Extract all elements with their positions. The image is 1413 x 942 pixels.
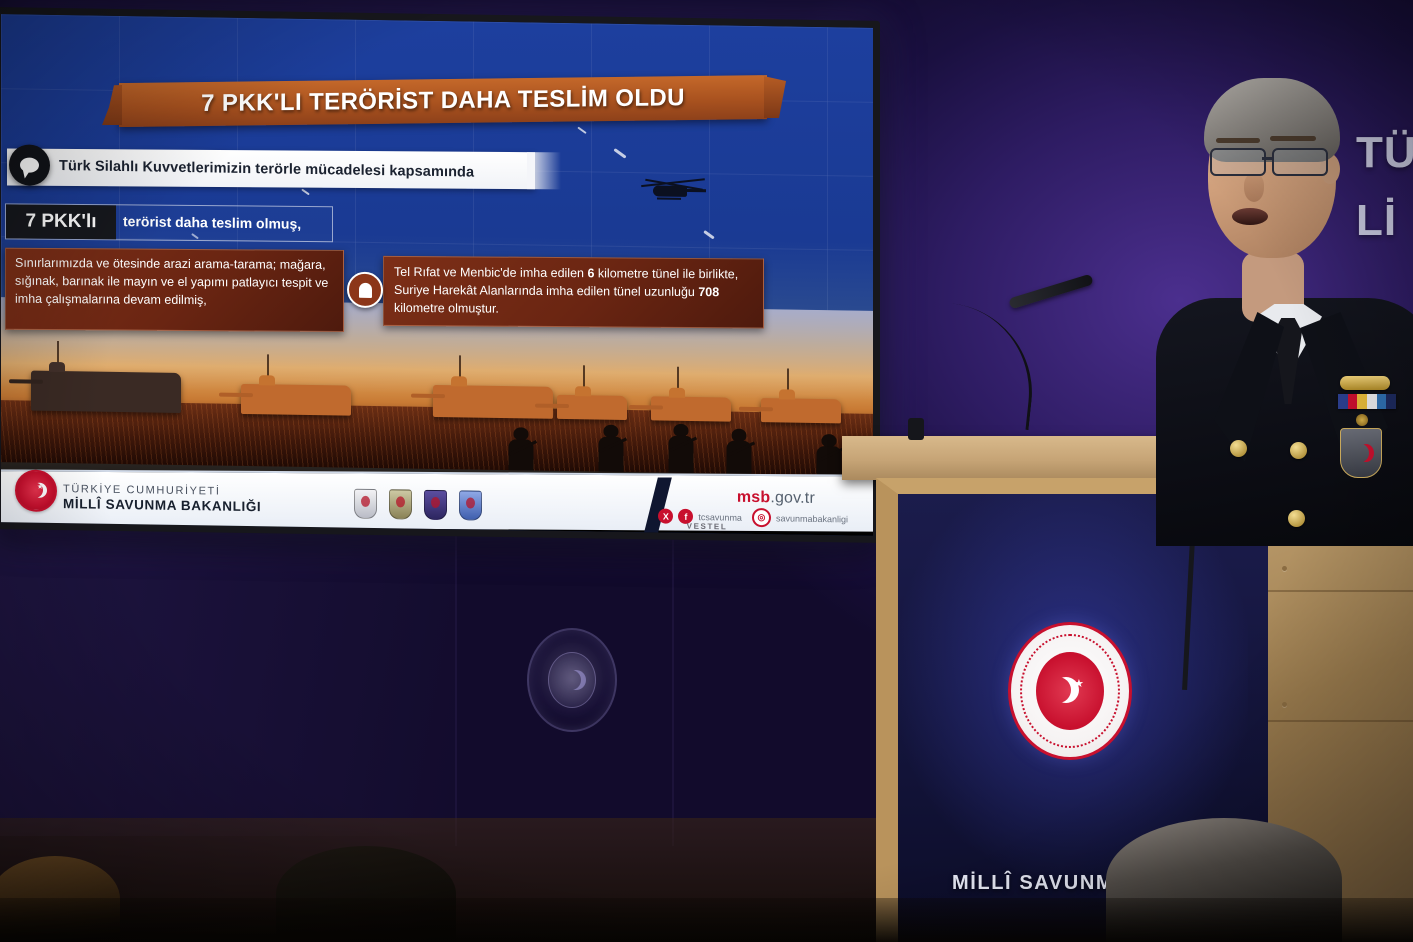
- screenshot-root: TÜ Lİ: [0, 0, 1413, 942]
- crest-air-forces-icon: [424, 490, 447, 520]
- info-right-part-c: kilometre olmuştur.: [394, 301, 499, 316]
- display-screen: 7 PKK'LI TERÖRİST DAHA TESLİM OLDU Türk …: [1, 14, 873, 536]
- url-rest: .gov.tr: [770, 489, 815, 507]
- wall-panel-left: [0, 516, 455, 836]
- speaker-eyebrow-right: [1270, 136, 1316, 141]
- speech-bubble-icon: [9, 144, 50, 186]
- slide-lead-banner-text: Türk Silahlı Kuvvetlerimizin terörle müc…: [59, 147, 474, 191]
- social-handle-2: savunmabakanligi: [776, 513, 848, 524]
- footer-org-line-2: MİLLÎ SAVUNMA BAKANLIĞI: [63, 496, 261, 514]
- slide-title: 7 PKK'LI TERÖRİST DAHA TESLİM OLDU: [119, 75, 767, 127]
- instagram-icon: ◎: [752, 508, 771, 527]
- speaker-eyeglasses-icon: [1210, 148, 1336, 174]
- speaker-nose: [1244, 174, 1264, 202]
- crest-general-staff-icon: [354, 489, 377, 519]
- podium-ministry-seal-icon: ★: [1008, 622, 1132, 760]
- speaker-medal-icon: [1356, 414, 1368, 426]
- speaker-unit-patch-icon: [1340, 428, 1382, 478]
- slide-title-ribbon: 7 PKK'LI TERÖRİST DAHA TESLİM OLDU: [119, 75, 767, 127]
- slide-info-right-text: Tel Rıfat ve Menbic'de imha edilen 6 kil…: [394, 263, 755, 320]
- vehicle-silhouette: [557, 395, 627, 420]
- vehicle-silhouette: [31, 371, 181, 413]
- jacket-button: [1288, 510, 1305, 527]
- speaker-mouth: [1232, 208, 1268, 225]
- slide-info-box-left: Sınırlarımızda ve ötesinde arazi arama-t…: [5, 248, 344, 332]
- slide-highlight-text: terörist daha teslim olmuş,: [123, 204, 301, 241]
- info-right-number-2: 708: [698, 285, 719, 299]
- ministry-seal-icon: ★: [15, 469, 57, 512]
- jacket-button: [1290, 442, 1307, 459]
- info-right-part-a: Tel Rıfat ve Menbic'de imha edilen: [394, 265, 587, 280]
- slide-info-box-right: Tel Rıfat ve Menbic'de imha edilen 6 kil…: [383, 256, 764, 329]
- slide-highlight-badge: 7 PKK'lı: [6, 204, 116, 239]
- vehicle-silhouette: [761, 398, 841, 423]
- tunnel-icon: [347, 272, 383, 309]
- tv-brand-label: VESTEL: [686, 522, 727, 532]
- x-twitter-icon: X: [658, 508, 673, 523]
- speaker-eyebrow-left: [1216, 138, 1260, 143]
- jacket-button: [1230, 440, 1247, 457]
- wall-seam: [455, 516, 457, 846]
- presentation-display: 7 PKK'LI TERÖRİST DAHA TESLİM OLDU Türk …: [0, 7, 880, 543]
- social-handle-1: tcsavunma: [698, 512, 742, 523]
- seal-star-glyph: ★: [1074, 677, 1084, 690]
- vehicle-silhouette: [651, 396, 731, 421]
- speaker-gold-insignia: [1340, 376, 1390, 390]
- speaker-ribbon-bar: [1338, 394, 1396, 409]
- url-brand: msb: [737, 489, 771, 507]
- vehicle-silhouette: [433, 385, 553, 419]
- foreground-shadow: [0, 898, 1413, 942]
- service-branch-crests: [354, 489, 482, 521]
- wall-seam: [672, 516, 674, 846]
- helicopter-silhouette-icon: [641, 176, 707, 203]
- speaker-person: [1170, 62, 1413, 532]
- slide-info-left-text: Sınırlarımızda ve ötesinde arazi arama-t…: [15, 255, 335, 310]
- microphone-base: [908, 418, 924, 440]
- footer-org-line-1: TÜRKİYE CUMHURİYETİ: [63, 483, 221, 497]
- wall-ministry-emblem-icon: [527, 628, 617, 732]
- crest-naval-forces-icon: [459, 490, 482, 520]
- crest-land-forces-icon: [389, 489, 412, 519]
- footer-website-url: msb.gov.tr: [737, 489, 815, 508]
- vehicle-silhouette: [241, 384, 351, 416]
